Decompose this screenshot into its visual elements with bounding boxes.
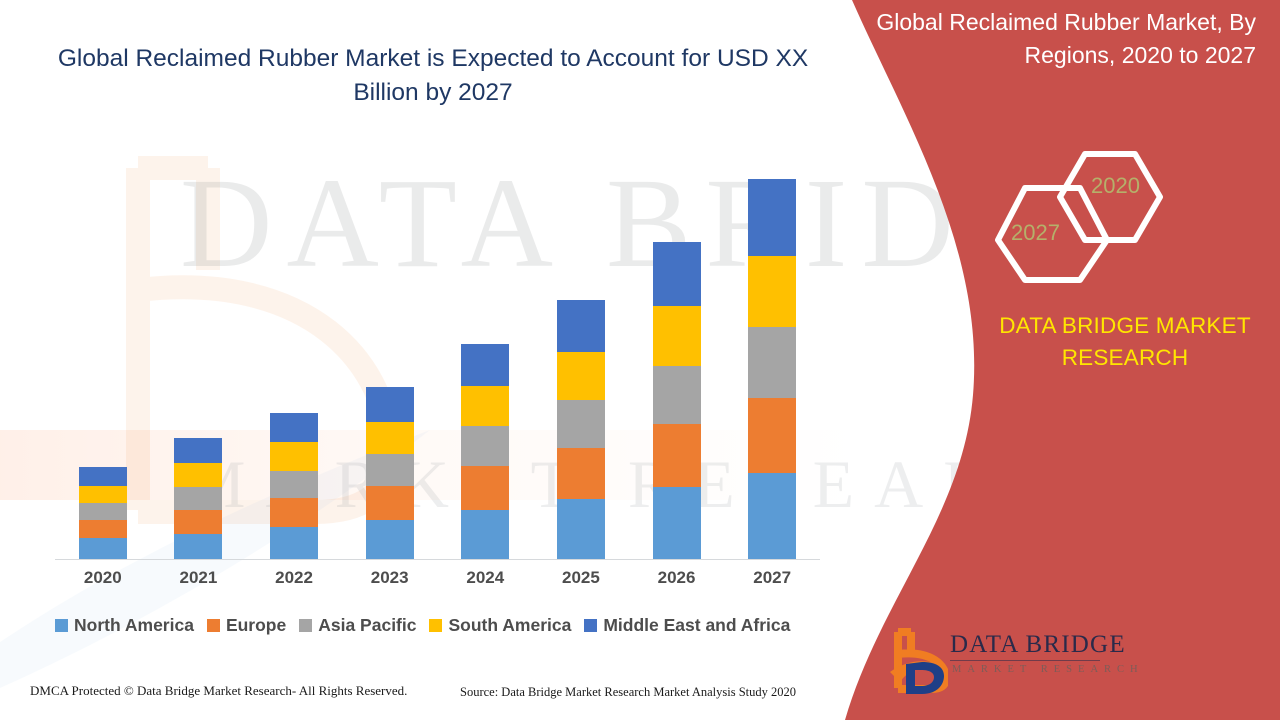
bar-segment[interactable] [557, 352, 605, 400]
legend-item[interactable]: Asia Pacific [299, 615, 416, 636]
bar-segment[interactable] [653, 306, 701, 366]
data-bridge-logo: DATA BRIDGE MARKET RESEARCH [888, 626, 1103, 696]
bar-segment[interactable] [366, 422, 414, 454]
bar-segment[interactable] [366, 486, 414, 520]
bar-segment[interactable] [366, 520, 414, 559]
chart-plot-area [55, 160, 820, 560]
bar-segment[interactable] [653, 424, 701, 487]
bar-segment[interactable] [653, 487, 701, 559]
legend-swatch-icon [429, 619, 442, 632]
legend-swatch-icon [584, 619, 597, 632]
bar-segment[interactable] [748, 327, 796, 398]
bar-group[interactable] [653, 242, 701, 559]
logo-divider [950, 660, 1100, 661]
bar-segment[interactable] [79, 520, 127, 538]
x-axis-labels: 20202021202220232024202520262027 [55, 568, 820, 596]
x-axis-label: 2023 [350, 568, 430, 588]
hex-year-2020: 2020 [1091, 173, 1140, 199]
bar-segment[interactable] [270, 413, 318, 443]
bar-segment[interactable] [461, 510, 509, 559]
x-axis-label: 2020 [63, 568, 143, 588]
bar-segment[interactable] [557, 300, 605, 352]
bar-segment[interactable] [79, 503, 127, 520]
bar-segment[interactable] [461, 426, 509, 466]
bar-segment[interactable] [461, 466, 509, 509]
bar-segment[interactable] [748, 473, 796, 559]
legend-item[interactable]: South America [429, 615, 571, 636]
x-axis-line [55, 559, 820, 560]
x-axis-label: 2026 [637, 568, 717, 588]
bar-group[interactable] [557, 300, 605, 559]
bar-group[interactable] [174, 438, 222, 559]
footer-copyright: DMCA Protected © Data Bridge Market Rese… [30, 683, 407, 699]
bar-segment[interactable] [174, 487, 222, 510]
legend-item[interactable]: Middle East and Africa [584, 615, 790, 636]
chart-title: Global Reclaimed Rubber Market is Expect… [48, 42, 818, 110]
infographic-page: DATA BRIDGE MARKET RESEARCH Global Recla… [0, 0, 1280, 720]
bar-group[interactable] [461, 344, 509, 559]
bar-segment[interactable] [270, 527, 318, 559]
legend-swatch-icon [207, 619, 220, 632]
bar-segment[interactable] [366, 387, 414, 421]
legend-label: Europe [226, 615, 286, 636]
x-axis-label: 2024 [445, 568, 525, 588]
legend-label: Middle East and Africa [603, 615, 790, 636]
bar-segment[interactable] [270, 498, 318, 527]
bar-segment[interactable] [174, 534, 222, 559]
bar-segment[interactable] [748, 256, 796, 327]
bar-segment[interactable] [366, 454, 414, 486]
bar-segment[interactable] [748, 398, 796, 474]
bar-segment[interactable] [270, 471, 318, 498]
bar-group[interactable] [270, 413, 318, 559]
panel-title: Global Reclaimed Rubber Market, By Regio… [876, 6, 1256, 72]
bar-group[interactable] [748, 179, 796, 559]
bar-segment[interactable] [461, 386, 509, 426]
legend-item[interactable]: North America [55, 615, 194, 636]
bar-segment[interactable] [653, 366, 701, 424]
legend-item[interactable]: Europe [207, 615, 286, 636]
db-logo-mark-icon [888, 626, 948, 696]
hex-year-2027: 2027 [1011, 220, 1060, 246]
legend-swatch-icon [55, 619, 68, 632]
bar-segment[interactable] [653, 242, 701, 306]
bar-segment[interactable] [174, 510, 222, 534]
bar-segment[interactable] [79, 538, 127, 559]
x-axis-label: 2025 [541, 568, 621, 588]
bar-segment[interactable] [557, 499, 605, 559]
footer-source: Source: Data Bridge Market Research Mark… [460, 685, 796, 700]
bar-segment[interactable] [557, 448, 605, 500]
x-axis-label: 2021 [158, 568, 238, 588]
hexagon-outlines-icon [985, 140, 1175, 285]
bar-segment[interactable] [79, 467, 127, 485]
x-axis-label: 2027 [732, 568, 812, 588]
legend-label: South America [448, 615, 571, 636]
bar-segment[interactable] [174, 438, 222, 463]
x-axis-label: 2022 [254, 568, 334, 588]
bar-segment[interactable] [270, 442, 318, 471]
brand-name: DATA BRIDGE MARKET RESEARCH [975, 310, 1275, 374]
bar-segment[interactable] [79, 486, 127, 503]
legend-label: Asia Pacific [318, 615, 416, 636]
bar-group[interactable] [366, 387, 414, 559]
bar-segment[interactable] [461, 344, 509, 386]
bar-segment[interactable] [174, 463, 222, 487]
logo-subtitle: MARKET RESEARCH [952, 664, 1144, 675]
bar-segment[interactable] [557, 400, 605, 448]
logo-wordmark: DATA BRIDGE [950, 631, 1126, 659]
legend-swatch-icon [299, 619, 312, 632]
bar-segment[interactable] [748, 179, 796, 256]
bar-group[interactable] [79, 467, 127, 559]
chart-legend: North AmericaEuropeAsia PacificSouth Ame… [55, 615, 845, 636]
legend-label: North America [74, 615, 194, 636]
hexagon-badges: 2020 2027 [985, 140, 1175, 285]
